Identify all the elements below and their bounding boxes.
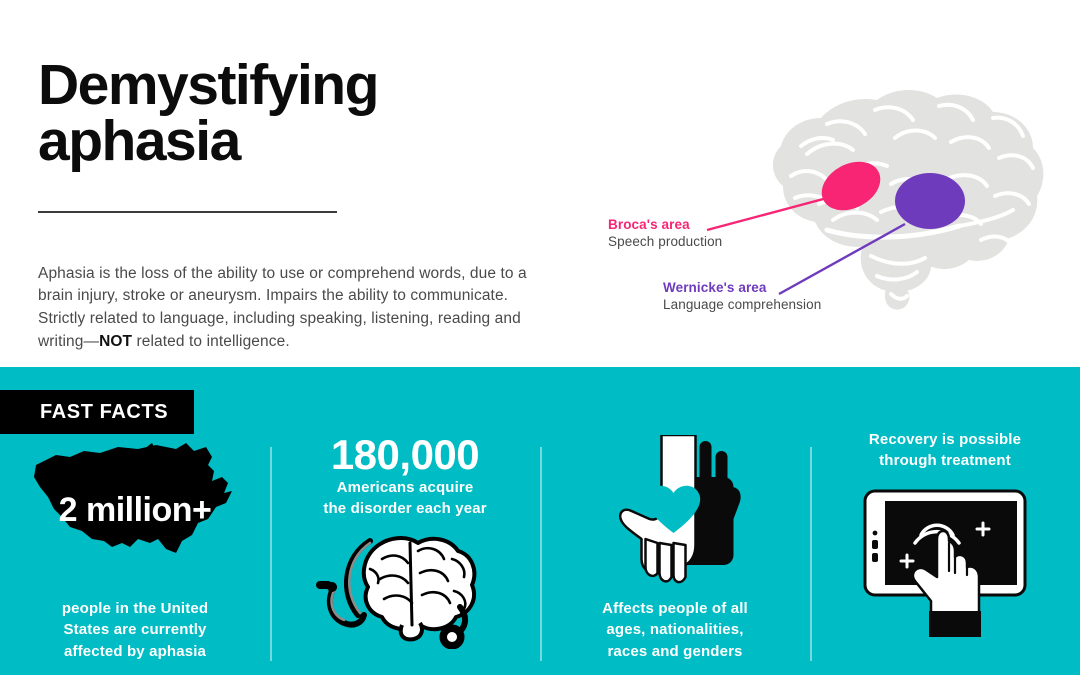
broca-label-group: Broca's area Speech production bbox=[608, 217, 722, 249]
fact-caption-incidence: Americans acquire the disorder each year bbox=[270, 477, 540, 520]
brain-stethoscope-icon bbox=[310, 529, 500, 649]
fact-column-demographics: Affects people of all ages, nationalitie… bbox=[540, 443, 810, 675]
stat-value-incidence: 180,000 bbox=[270, 431, 540, 479]
hand-cuff bbox=[929, 611, 981, 637]
stat-value-population: 2 million+ bbox=[15, 491, 255, 530]
fact-caption-recovery: Recovery is possible through treatment bbox=[810, 429, 1080, 472]
tablet-touch-svg bbox=[855, 485, 1035, 640]
title-block: Demystifying aphasia bbox=[38, 58, 508, 170]
intro-paragraph: Aphasia is the loss of the ability to us… bbox=[38, 263, 543, 355]
wernicke-area-marker bbox=[895, 173, 965, 229]
fact-caption-population: people in the United States are currentl… bbox=[0, 598, 270, 662]
intro-emphasis-not: NOT bbox=[99, 333, 132, 350]
fast-facts-columns: 2 million+ people in the United States a… bbox=[0, 443, 1080, 675]
tablet-touch-icon bbox=[855, 485, 1035, 640]
helping-hands-heart-icon bbox=[608, 435, 743, 585]
broca-label-title: Broca's area bbox=[608, 217, 722, 232]
infographic-page: Demystifying aphasia Aphasia is the loss… bbox=[0, 0, 1080, 675]
wernicke-label-group: Wernicke's area Language comprehension bbox=[663, 280, 821, 312]
hands-heart-svg bbox=[608, 435, 743, 585]
fact-column-recovery: Recovery is possible through treatment bbox=[810, 443, 1080, 675]
fact-column-population: 2 million+ people in the United States a… bbox=[0, 443, 270, 675]
intro-text-part-2: related to intelligence. bbox=[132, 333, 290, 350]
fast-facts-tag-label: FAST FACTS bbox=[40, 401, 168, 424]
brain-stethoscope-svg bbox=[310, 529, 500, 649]
wernicke-label-title: Wernicke's area bbox=[663, 280, 821, 295]
fact-caption-demographics: Affects people of all ages, nationalitie… bbox=[540, 598, 810, 662]
wernicke-label-sublabel: Language comprehension bbox=[663, 297, 821, 312]
broca-label-sublabel: Speech production bbox=[608, 234, 722, 249]
brain-diagram: Broca's area Speech production Wernicke'… bbox=[595, 80, 1065, 340]
title-divider-rule bbox=[38, 211, 337, 213]
intro-section: Demystifying aphasia Aphasia is the loss… bbox=[0, 0, 1080, 367]
fact-column-incidence: 180,000 Americans acquire the disorder e… bbox=[270, 443, 540, 675]
fast-facts-tag: FAST FACTS bbox=[0, 390, 194, 434]
fast-facts-section: FAST FACTS 2 million+ people in the Unit… bbox=[0, 367, 1080, 675]
page-title: Demystifying aphasia bbox=[38, 58, 508, 170]
